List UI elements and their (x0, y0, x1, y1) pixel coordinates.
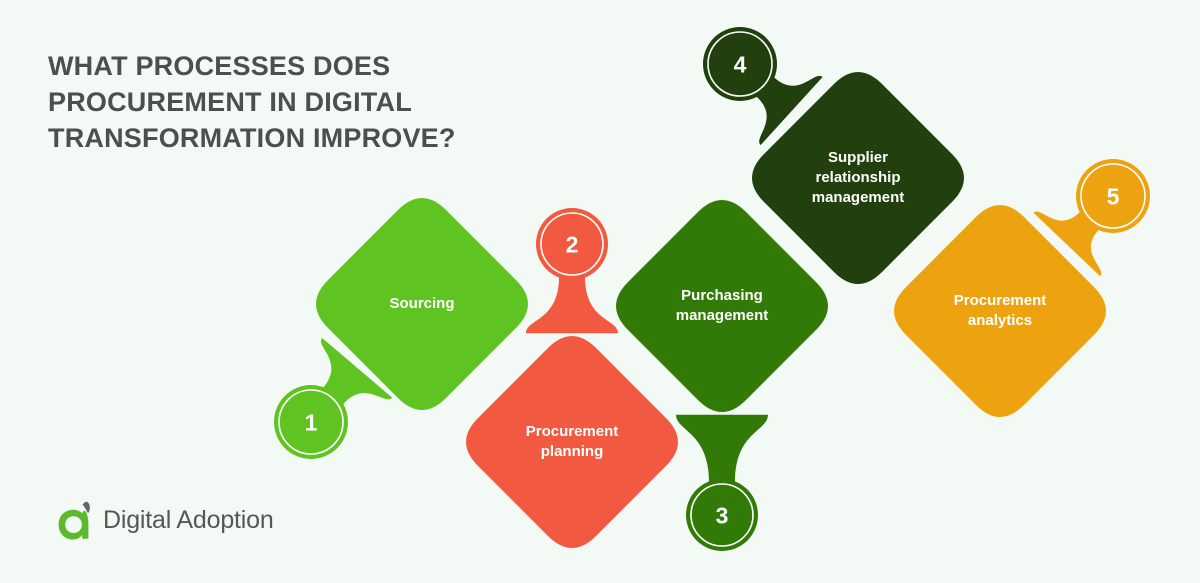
page-title: WHAT PROCESSES DOES PROCUREMENT IN DIGIT… (48, 48, 508, 156)
page-title-line-3: TRANSFORMATION IMPROVE? (48, 120, 508, 156)
page-title-line-2: PROCUREMENT IN DIGITAL (48, 84, 508, 120)
process-node-2-diamond[interactable] (466, 336, 678, 548)
process-node-5-badge[interactable] (1076, 159, 1150, 233)
process-node-3-badge[interactable] (686, 479, 758, 551)
brand-logo: Digital Adoption (56, 498, 274, 542)
process-node-3-connector (676, 415, 768, 482)
process-node-2[interactable] (466, 208, 678, 548)
process-node-2-connector (526, 277, 618, 333)
page-title-line-1: WHAT PROCESSES DOES (48, 48, 508, 84)
process-node-1-badge[interactable] (274, 385, 348, 459)
brand-logo-text: Digital Adoption (103, 508, 274, 533)
digital-adoption-a-mark-icon (56, 498, 96, 542)
process-node-3[interactable] (616, 200, 828, 551)
process-node-2-badge[interactable] (536, 208, 608, 280)
process-node-4-badge[interactable] (703, 27, 777, 101)
